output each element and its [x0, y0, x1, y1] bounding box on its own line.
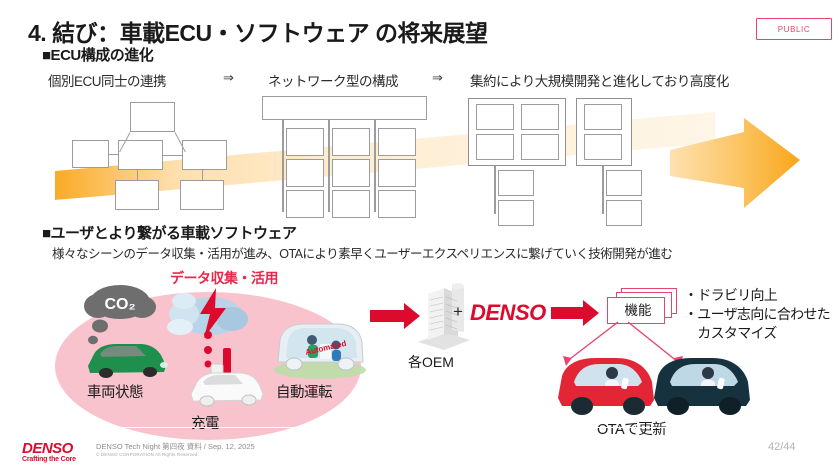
ecu-connector [163, 155, 182, 156]
ecu-box [286, 159, 324, 187]
evolution-arrow-icon [670, 118, 800, 214]
scene-label-autonomous: 自動運転 [276, 381, 332, 402]
stage-label-1: 個別ECU同士の連携 [48, 70, 166, 90]
ecu-box [286, 128, 324, 156]
stage-arrow-icon-2: ⇒ [432, 70, 443, 86]
ecu-connector [109, 154, 118, 155]
ecu-box [115, 180, 159, 210]
ecu-bus-bar [262, 96, 427, 120]
charging-station-icon [185, 348, 275, 412]
ecu-connector [137, 170, 138, 180]
ecu-box [130, 102, 175, 132]
oem-building-icon [412, 282, 476, 352]
denso-wordmark: DENSO [470, 300, 546, 326]
ecu-box [498, 170, 534, 196]
ecu-box [498, 200, 534, 226]
ota-update-label: OTAで更新 [597, 418, 666, 439]
section-heading-software: ■ユーザとより繋がる車載ソフトウェア [42, 222, 296, 243]
ecu-box [72, 140, 109, 168]
stage-arrow-icon-1: ⇒ [223, 70, 234, 86]
ecu-trunk [328, 120, 330, 212]
ecu-box [606, 200, 642, 226]
benefit-item-2: ・ユーザ志向に合わせた [684, 305, 830, 324]
autonomous-vehicle-icon: Automated [268, 318, 372, 380]
function-card-label: 機能 [612, 299, 664, 319]
denso-tagline: Crafting the Core [22, 456, 76, 463]
green-car-icon [80, 336, 170, 382]
ecu-box [606, 170, 642, 196]
ecu-box [378, 159, 416, 187]
benefit-item-1: ・ドラビリ向上 [684, 286, 830, 305]
slide-canvas: 4. 結び：車載ECU・ソフトウェア の将来展望 PUBLIC ■ECU構成の進… [0, 0, 840, 473]
ecu-box [584, 104, 622, 130]
ecu-box [584, 134, 622, 160]
ecu-box [332, 190, 370, 218]
red-connected-car-icon [552, 352, 660, 418]
ecu-box [180, 180, 224, 210]
scene-label-vehicle-state: 車両状態 [87, 381, 143, 402]
benefits-list: ・ドラビリ向上 ・ユーザ志向に合わせた カスタマイズ [684, 286, 830, 343]
ecu-trunk [374, 120, 376, 212]
data-collection-label: データ収集・活用 [170, 268, 278, 288]
plus-sign: + [453, 302, 463, 322]
ecu-box [521, 104, 559, 130]
ecu-box [118, 140, 163, 170]
denso-logo: DENSO [22, 440, 73, 457]
ecu-trunk [602, 166, 604, 214]
footer-divider [0, 427, 840, 428]
ecu-box [332, 128, 370, 156]
ecu-box [476, 104, 514, 130]
ecu-box [332, 159, 370, 187]
page-number: 42/44 [768, 441, 796, 453]
ecu-box [521, 134, 559, 160]
ecu-connector [202, 170, 203, 180]
ecu-box [378, 190, 416, 218]
ecu-trunk [494, 166, 496, 214]
navy-connected-car-icon [648, 352, 756, 418]
oem-label: 各OEM [408, 352, 454, 372]
ecu-box [182, 140, 227, 170]
footer-copyright: © DENSO CORPORATION All Rights Reserved. [96, 452, 199, 457]
ecu-box [378, 128, 416, 156]
svg-text:CO₂: CO₂ [104, 296, 135, 313]
benefit-item-3: カスタマイズ [684, 324, 830, 343]
ecu-box [286, 190, 324, 218]
scene-label-charging: 充電 [191, 412, 219, 433]
section-paragraph: 様々なシーンのデータ収集・活用が進み、OTAにより素早くユーザーエクスペリエンス… [52, 243, 672, 262]
ecu-trunk [282, 120, 284, 212]
ecu-box [476, 134, 514, 160]
page-title: 4. 結び：車載ECU・ソフトウェア の将来展望 [28, 14, 488, 48]
footer-line-1: DENSO Tech Night 第四夜 資料 / Sep. 12, 2025 [96, 441, 255, 452]
stage-label-3: 集約により大規模開発と進化しており高度化 [470, 70, 729, 90]
stage-label-2: ネットワーク型の構成 [268, 70, 398, 90]
section-heading-ecu: ■ECU構成の進化 [42, 44, 153, 65]
status-badge: PUBLIC [756, 18, 832, 40]
